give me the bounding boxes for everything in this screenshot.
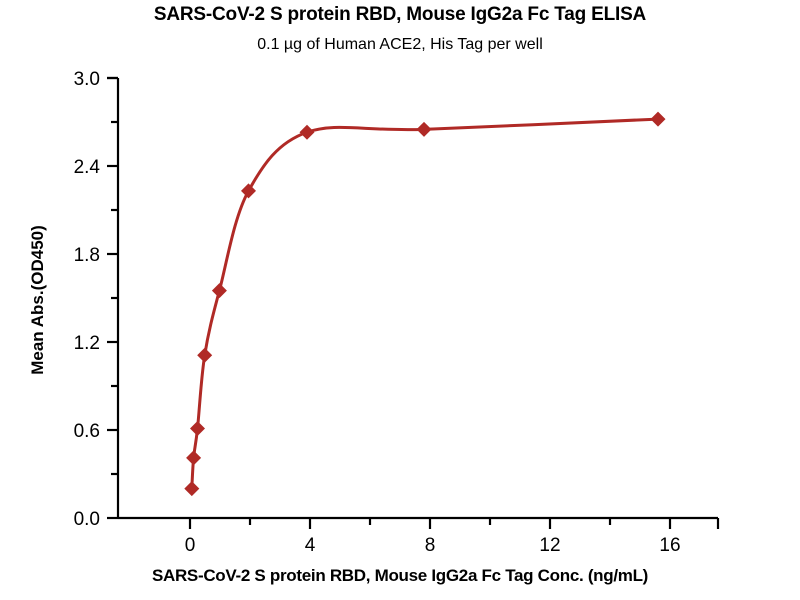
x-tick-label: 8 xyxy=(425,535,436,556)
data-point-marker: 7.8 ng/mL, OD450 2.65 xyxy=(417,122,432,137)
ticks-layer xyxy=(107,78,718,529)
data-point-marker: 0.12 ng/mL, OD450 0.41 xyxy=(186,450,201,465)
y-tick-label: 1.2 xyxy=(74,333,100,354)
data-point-marker: 0.06 ng/mL, OD450 0.2 xyxy=(184,481,199,496)
y-tick-label: 0.0 xyxy=(74,509,100,530)
data-point-marker: 15.6 ng/mL, OD450 2.72 xyxy=(651,112,666,127)
x-tick-label: 12 xyxy=(539,535,560,556)
y-tick-label: 1.8 xyxy=(74,245,100,266)
x-tick-label: 4 xyxy=(305,535,316,556)
tick-labels-layer: 0.00.61.21.82.43.00481216 xyxy=(74,69,681,556)
x-tick-label: 0 xyxy=(185,535,196,556)
y-tick-label: 2.4 xyxy=(74,157,101,178)
x-tick-label: 16 xyxy=(659,535,680,556)
data-series-layer: 0.06 ng/mL, OD450 0.20.12 ng/mL, OD450 0… xyxy=(184,112,665,497)
data-point-marker: 0.25 ng/mL, OD450 0.61 xyxy=(190,421,205,436)
y-tick-label: 0.6 xyxy=(74,421,100,442)
series-fit-curve xyxy=(192,119,658,489)
data-point-marker: 1.95 ng/mL, OD450 2.23 xyxy=(241,183,256,198)
y-tick-label: 3.0 xyxy=(74,69,100,90)
elisa-binding-curve-chart: SARS-CoV-2 S protein RBD, Mouse IgG2a Fc… xyxy=(0,0,800,600)
axes-layer xyxy=(118,78,718,518)
data-point-marker: 0.49 ng/mL, OD450 1.11 xyxy=(197,348,212,363)
plot-area: 0.00.61.21.82.43.00481216 0.06 ng/mL, OD… xyxy=(0,0,800,600)
data-point-marker: 0.98 ng/mL, OD450 1.55 xyxy=(212,283,227,298)
data-point-marker: 3.9 ng/mL, OD450 2.63 xyxy=(300,125,315,140)
